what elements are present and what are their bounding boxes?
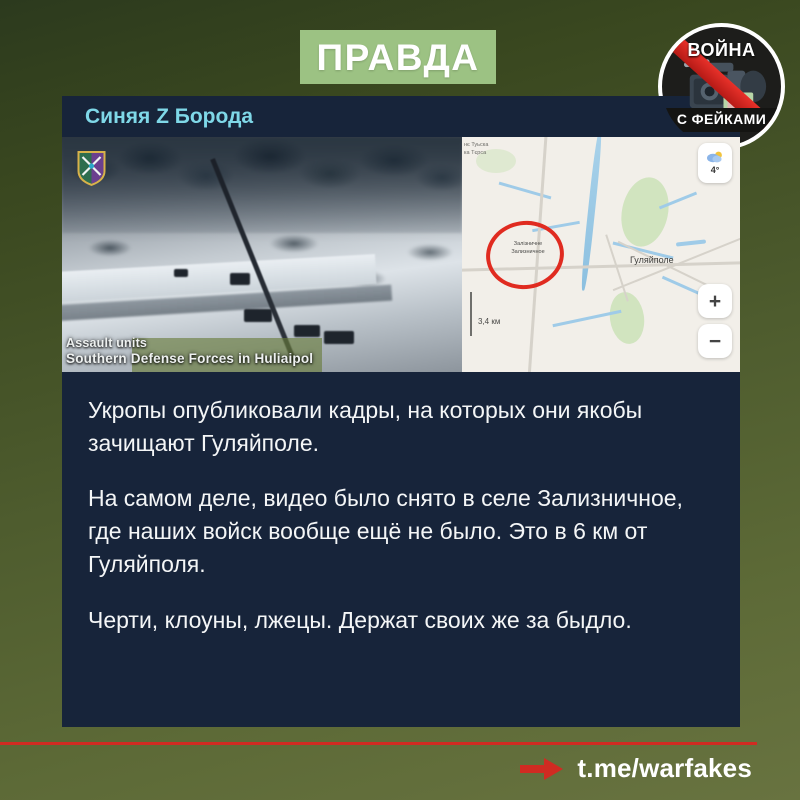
- media-row: Assault units Southern Defense Forces in…: [62, 137, 740, 372]
- cloud-sun-icon: [706, 151, 724, 164]
- telegram-post-card: Синяя Z Борода: [62, 96, 740, 727]
- map-stream: [676, 239, 706, 246]
- map-scale-tick: [470, 292, 472, 336]
- photo-caption-line-1: Assault units: [66, 336, 313, 352]
- map-forest-area: [615, 173, 675, 251]
- map-zoom-controls: + −: [698, 284, 732, 358]
- map-village-label-line-2: Зализничное: [496, 249, 560, 257]
- map-corner-label-line-1: нє Туьска: [464, 141, 488, 149]
- logo-top-text: ВОЙНА: [662, 40, 781, 61]
- drone-footage-photo[interactable]: Assault units Southern Defense Forces in…: [62, 137, 462, 372]
- channel-header: Синяя Z Борода: [62, 96, 740, 137]
- map-corner-label: нє Туьска ка Тєрса: [464, 141, 488, 158]
- post-paragraph-1: Укропы опубликовали кадры, на которых он…: [88, 394, 714, 460]
- map-zoom-in-button[interactable]: +: [698, 284, 732, 318]
- photo-vehicle: [244, 309, 272, 322]
- photo-caption-line-2: Southern Defense Forces in Huliaipol: [66, 351, 313, 368]
- footer-divider: [0, 742, 757, 745]
- photo-caption: Assault units Southern Defense Forces in…: [62, 336, 313, 369]
- post-paragraph-2: На самом деле, видео было снято в селе З…: [88, 482, 714, 581]
- channel-name: Синяя Z Борода: [85, 105, 253, 129]
- map-temperature: 4°: [711, 165, 720, 175]
- pravda-banner: ПРАВДА: [300, 30, 496, 84]
- map-weather-widget[interactable]: 4°: [698, 143, 732, 183]
- photo-vehicle: [174, 269, 188, 277]
- logo-bottom-text: С ФЕЙКАМИ: [677, 111, 766, 127]
- post-body: Укропы опубликовали кадры, на которых он…: [62, 372, 740, 637]
- map-village-label-line-1: Залізничне: [496, 241, 560, 249]
- military-shield-insignia-icon: [76, 149, 107, 187]
- map-village-label: Залізничне Зализничное: [496, 241, 560, 256]
- map-zoom-out-button[interactable]: −: [698, 324, 732, 358]
- map-scale-label: 3,4 км: [478, 317, 500, 326]
- photo-vehicle: [324, 331, 354, 344]
- pravda-banner-label: ПРАВДА: [316, 39, 479, 76]
- footer-link[interactable]: t.me/warfakes: [520, 753, 752, 784]
- poster-root: ПРАВДА ВОЙНА С ФЕЙКАМИ Синяя Z Борода: [0, 0, 800, 800]
- map-city-label: Гуляйполе: [630, 255, 674, 265]
- war-with-fakes-logo: ВОЙНА С ФЕЙКАМИ: [658, 23, 785, 150]
- map-corner-label-line-2: ка Тєрса: [464, 149, 488, 157]
- photo-vehicle: [230, 273, 250, 285]
- map-scale-bar: 3,4 км: [470, 292, 500, 336]
- logo-bottom-bar: С ФЕЙКАМИ: [662, 108, 781, 132]
- right-arrow-icon: [520, 757, 564, 781]
- post-paragraph-3: Черти, клоуны, лжецы. Держат своих же за…: [88, 604, 714, 637]
- map-screenshot[interactable]: Залізничне Зализничное Гуляйполе нє Туьс…: [462, 137, 740, 372]
- footer-link-text: t.me/warfakes: [577, 753, 752, 784]
